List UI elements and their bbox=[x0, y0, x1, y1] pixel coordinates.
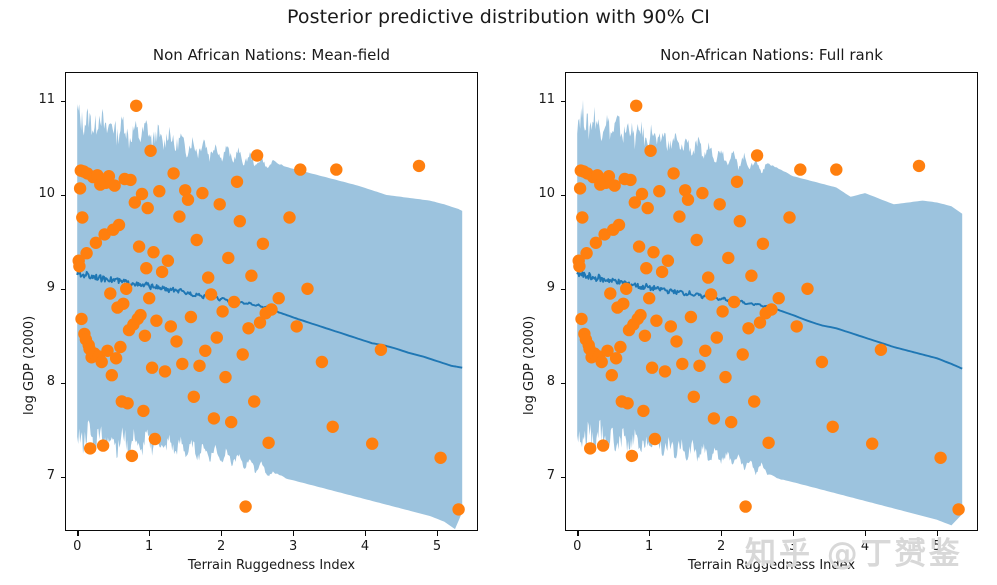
scatter-point bbox=[728, 296, 740, 308]
right-plot-area bbox=[565, 72, 978, 531]
x-tick-label: 0 bbox=[562, 539, 592, 554]
scatter-point bbox=[216, 305, 228, 317]
scatter-point bbox=[638, 329, 650, 341]
x-tick-mark bbox=[721, 531, 722, 536]
left-subplot-title: Non African Nations: Mean-field bbox=[65, 46, 478, 64]
scatter-point bbox=[146, 361, 158, 373]
scatter-point bbox=[661, 254, 673, 266]
x-tick-mark bbox=[649, 531, 650, 536]
scatter-point bbox=[625, 449, 637, 461]
scatter-point bbox=[610, 352, 622, 364]
scatter-point bbox=[164, 320, 176, 332]
scatter-point bbox=[74, 182, 86, 194]
scatter-point bbox=[707, 412, 719, 424]
scatter-point bbox=[595, 356, 607, 368]
x-tick-label: 0 bbox=[62, 539, 92, 554]
scatter-point bbox=[330, 163, 342, 175]
x-tick-mark bbox=[437, 531, 438, 536]
scatter-point bbox=[141, 202, 153, 214]
x-tick-mark bbox=[293, 531, 294, 536]
scatter-point bbox=[133, 240, 145, 252]
scatter-point bbox=[120, 282, 132, 294]
scatter-point bbox=[134, 309, 146, 321]
scatter-point bbox=[633, 240, 645, 252]
scatter-point bbox=[202, 271, 214, 283]
left-x-axis-label: Terrain Ruggedness Index bbox=[65, 558, 478, 573]
scatter-point bbox=[621, 397, 633, 409]
scatter-point bbox=[913, 159, 925, 171]
scatter-point bbox=[176, 357, 188, 369]
scatter-point bbox=[187, 390, 199, 402]
scatter-point bbox=[584, 442, 596, 454]
scatter-point bbox=[815, 356, 827, 368]
scatter-point bbox=[236, 348, 248, 360]
scatter-point bbox=[670, 335, 682, 347]
scatter-point bbox=[239, 500, 251, 512]
y-tick-mark bbox=[561, 289, 566, 290]
scatter-point bbox=[210, 331, 222, 343]
scatter-point bbox=[636, 188, 648, 200]
right-y-axis-label: log GDP (2000) bbox=[522, 316, 537, 415]
scatter-point bbox=[97, 439, 109, 451]
scatter-point bbox=[801, 282, 813, 294]
y-tick-label: 10 bbox=[525, 186, 555, 201]
scatter-point bbox=[676, 357, 688, 369]
left-y-axis-label: log GDP (2000) bbox=[22, 316, 37, 415]
scatter-point bbox=[783, 211, 795, 223]
scatter-point bbox=[222, 251, 234, 263]
scatter-point bbox=[641, 202, 653, 214]
scatter-point bbox=[140, 262, 152, 274]
scatter-point bbox=[644, 144, 656, 156]
scatter-point bbox=[830, 163, 842, 175]
y-tick-label: 11 bbox=[525, 92, 555, 107]
scatter-point bbox=[114, 341, 126, 353]
scatter-point bbox=[756, 237, 768, 249]
scatter-point bbox=[790, 320, 802, 332]
scatter-point bbox=[614, 341, 626, 353]
scatter-point bbox=[664, 320, 676, 332]
x-tick-mark bbox=[365, 531, 366, 536]
scatter-point bbox=[315, 356, 327, 368]
scatter-point bbox=[620, 282, 632, 294]
scatter-point bbox=[113, 219, 125, 231]
y-tick-mark bbox=[61, 289, 66, 290]
scatter-point bbox=[637, 404, 649, 416]
scatter-point bbox=[137, 404, 149, 416]
chart-svg bbox=[65, 72, 478, 531]
scatter-point bbox=[219, 371, 231, 383]
scatter-point bbox=[934, 451, 946, 463]
figure-suptitle: Posterior predictive distribution with 9… bbox=[0, 6, 997, 28]
scatter-point bbox=[256, 237, 268, 249]
scatter-point bbox=[687, 390, 699, 402]
scatter-point bbox=[125, 449, 137, 461]
scatter-point bbox=[613, 219, 625, 231]
scatter-point bbox=[225, 416, 237, 428]
scatter-point bbox=[624, 173, 636, 185]
scatter-point bbox=[184, 311, 196, 323]
x-tick-label: 2 bbox=[206, 539, 236, 554]
scatter-point bbox=[696, 187, 708, 199]
scatter-point bbox=[144, 144, 156, 156]
scatter-point bbox=[265, 303, 277, 315]
scatter-point bbox=[272, 292, 284, 304]
scatter-point bbox=[434, 451, 446, 463]
scatter-point bbox=[646, 361, 658, 373]
scatter-point bbox=[452, 503, 464, 515]
scatter-point bbox=[597, 439, 609, 451]
x-tick-mark bbox=[149, 531, 150, 536]
x-tick-mark bbox=[577, 531, 578, 536]
scatter-point bbox=[866, 437, 878, 449]
scatter-point bbox=[574, 182, 586, 194]
scatter-point bbox=[242, 322, 254, 334]
scatter-point bbox=[722, 251, 734, 263]
scatter-point bbox=[794, 163, 806, 175]
scatter-point bbox=[647, 246, 659, 258]
y-tick-mark bbox=[561, 383, 566, 384]
y-tick-label: 7 bbox=[525, 468, 555, 483]
scatter-point bbox=[413, 159, 425, 171]
x-tick-label: 4 bbox=[350, 539, 380, 554]
scatter-point bbox=[182, 193, 194, 205]
scatter-point bbox=[713, 198, 725, 210]
y-tick-label: 9 bbox=[525, 280, 555, 295]
scatter-point bbox=[104, 287, 116, 299]
scatter-point bbox=[575, 312, 587, 324]
scatter-point bbox=[199, 344, 211, 356]
right-subplot-title: Non-African Nations: Full rank bbox=[565, 46, 978, 64]
scatter-point bbox=[699, 344, 711, 356]
scatter-point bbox=[576, 211, 588, 223]
scatter-point bbox=[739, 500, 751, 512]
scatter-point bbox=[643, 292, 655, 304]
scatter-point bbox=[248, 395, 260, 407]
scatter-point bbox=[874, 343, 886, 355]
scatter-point bbox=[190, 234, 202, 246]
left-plot-area bbox=[65, 72, 478, 531]
x-tick-label: 3 bbox=[278, 539, 308, 554]
scatter-point bbox=[110, 352, 122, 364]
scatter-point bbox=[673, 210, 685, 222]
x-tick-label: 1 bbox=[134, 539, 164, 554]
scatter-point bbox=[751, 149, 763, 161]
y-tick-label: 9 bbox=[25, 280, 55, 295]
scatter-point bbox=[690, 234, 702, 246]
scatter-point bbox=[148, 433, 160, 445]
scatter-point bbox=[251, 149, 263, 161]
scatter-point bbox=[326, 420, 338, 432]
y-tick-label: 8 bbox=[525, 374, 555, 389]
scatter-point bbox=[124, 173, 136, 185]
scatter-point bbox=[233, 215, 245, 227]
scatter-point bbox=[952, 503, 964, 515]
scatter-point bbox=[617, 297, 629, 309]
y-tick-mark bbox=[61, 195, 66, 196]
y-tick-mark bbox=[561, 195, 566, 196]
scatter-point bbox=[121, 397, 133, 409]
scatter-point bbox=[231, 175, 243, 187]
scatter-point bbox=[205, 288, 217, 300]
scatter-point bbox=[634, 309, 646, 321]
scatter-point bbox=[262, 436, 274, 448]
y-tick-label: 10 bbox=[25, 186, 55, 201]
scatter-point bbox=[156, 265, 168, 277]
scatter-point bbox=[283, 211, 295, 223]
scatter-point bbox=[604, 287, 616, 299]
scatter-point bbox=[80, 247, 92, 259]
scatter-point bbox=[772, 292, 784, 304]
scatter-point bbox=[193, 359, 205, 371]
scatter-point bbox=[762, 436, 774, 448]
x-tick-mark bbox=[221, 531, 222, 536]
scatter-point bbox=[290, 320, 302, 332]
x-tick-mark bbox=[77, 531, 78, 536]
scatter-point bbox=[228, 296, 240, 308]
scatter-point bbox=[170, 335, 182, 347]
y-tick-mark bbox=[61, 477, 66, 478]
scatter-point bbox=[130, 99, 142, 111]
scatter-point bbox=[742, 322, 754, 334]
chart-svg bbox=[565, 72, 978, 531]
scatter-point bbox=[736, 348, 748, 360]
scatter-point bbox=[213, 198, 225, 210]
scatter-point bbox=[667, 167, 679, 179]
scatter-point bbox=[710, 331, 722, 343]
scatter-point bbox=[245, 269, 257, 281]
scatter-point bbox=[196, 187, 208, 199]
scatter-point bbox=[374, 343, 386, 355]
scatter-point bbox=[76, 211, 88, 223]
scatter-point bbox=[693, 359, 705, 371]
scatter-point bbox=[648, 433, 660, 445]
scatter-point bbox=[630, 99, 642, 111]
scatter-point bbox=[640, 262, 652, 274]
scatter-point bbox=[745, 269, 757, 281]
scatter-point bbox=[650, 314, 662, 326]
scatter-point bbox=[656, 265, 668, 277]
scatter-point bbox=[731, 175, 743, 187]
scatter-point bbox=[105, 369, 117, 381]
scatter-point bbox=[748, 395, 760, 407]
scatter-point bbox=[138, 329, 150, 341]
scatter-point bbox=[143, 292, 155, 304]
y-tick-label: 11 bbox=[25, 92, 55, 107]
scatter-point bbox=[725, 416, 737, 428]
x-tick-label: 5 bbox=[422, 539, 452, 554]
scatter-point bbox=[659, 365, 671, 377]
scatter-point bbox=[702, 271, 714, 283]
y-tick-mark bbox=[561, 477, 566, 478]
scatter-point bbox=[301, 282, 313, 294]
y-tick-mark bbox=[61, 101, 66, 102]
figure-canvas: Posterior predictive distribution with 9… bbox=[0, 0, 997, 585]
scatter-point bbox=[705, 288, 717, 300]
scatter-point bbox=[95, 356, 107, 368]
y-tick-label: 7 bbox=[25, 468, 55, 483]
scatter-point bbox=[294, 163, 306, 175]
scatter-point bbox=[136, 188, 148, 200]
scatter-point bbox=[684, 311, 696, 323]
scatter-point bbox=[84, 442, 96, 454]
scatter-point bbox=[161, 254, 173, 266]
scatter-point bbox=[117, 297, 129, 309]
scatter-point bbox=[207, 412, 219, 424]
y-tick-label: 8 bbox=[25, 374, 55, 389]
scatter-point bbox=[765, 303, 777, 315]
scatter-point bbox=[159, 365, 171, 377]
scatter-point bbox=[580, 247, 592, 259]
scatter-point bbox=[653, 185, 665, 197]
y-tick-mark bbox=[61, 383, 66, 384]
x-tick-label: 2 bbox=[706, 539, 736, 554]
scatter-point bbox=[733, 215, 745, 227]
scatter-point bbox=[366, 437, 378, 449]
x-tick-label: 1 bbox=[634, 539, 664, 554]
scatter-point bbox=[573, 260, 585, 272]
scatter-point bbox=[147, 246, 159, 258]
scatter-point bbox=[719, 371, 731, 383]
scatter-point bbox=[150, 314, 162, 326]
scatter-point bbox=[75, 312, 87, 324]
scatter-point bbox=[153, 185, 165, 197]
y-tick-mark bbox=[561, 101, 566, 102]
scatter-point bbox=[605, 369, 617, 381]
scatter-point bbox=[682, 193, 694, 205]
scatter-point bbox=[826, 420, 838, 432]
scatter-point bbox=[173, 210, 185, 222]
scatter-point bbox=[716, 305, 728, 317]
scatter-point bbox=[167, 167, 179, 179]
zhihu-watermark: 知乎 @丁赟鉴 bbox=[745, 528, 963, 573]
scatter-point bbox=[73, 260, 85, 272]
